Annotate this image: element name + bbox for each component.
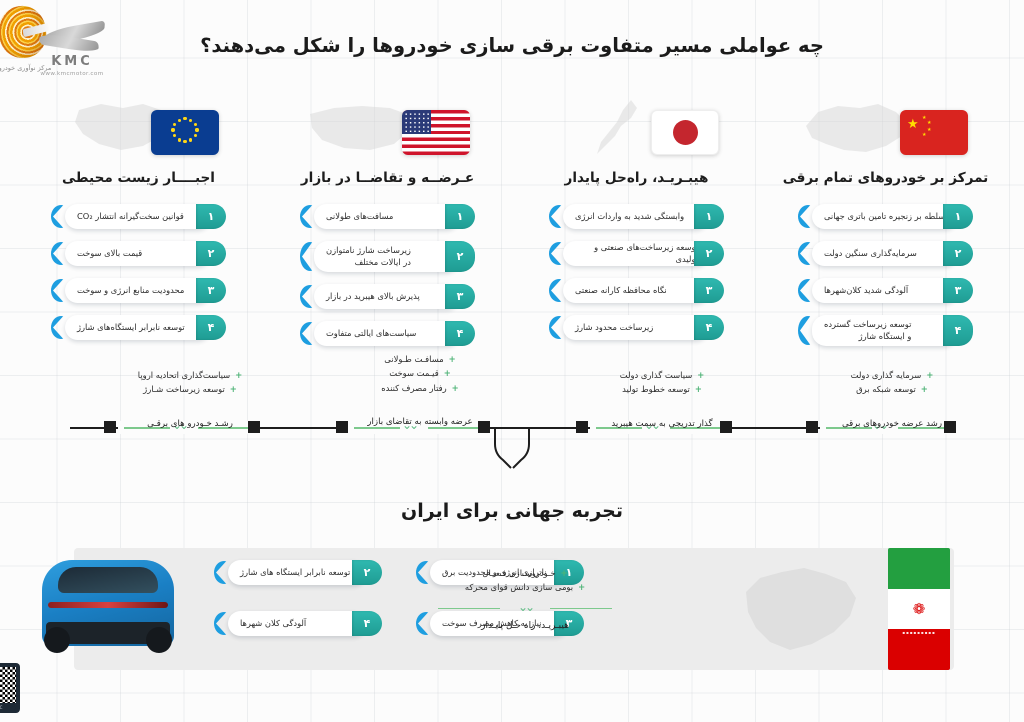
driver-row: +سرمایه گذاری دولت xyxy=(816,368,968,382)
factor-item[interactable]: مسافت‌های طولانی ۱ xyxy=(300,204,475,229)
factor-number: ۲ xyxy=(352,560,382,585)
driver-text: بومی سازی دانش قوای محرکه xyxy=(465,582,573,592)
eu-flag-row xyxy=(14,96,263,164)
factor-number: ۲ xyxy=(196,241,226,266)
factor-item[interactable]: سرمایه‌گذاری سنگین دولت ۲ xyxy=(798,241,973,266)
driver-text: خـودروسـازی فـعــال xyxy=(482,568,555,578)
factor-item[interactable]: زیرساخت محدود شارژ ۴ xyxy=(549,315,724,340)
driver-row: +سیاست‌گذاری اتحادیه اروپا xyxy=(114,368,266,382)
timeline-block-japan: +سیاست گذاری دولت +توسعه خطوط تولید گذار… xyxy=(586,368,738,429)
driver-text: توسعه شبکه برق xyxy=(856,384,916,394)
factor-text: قیمت بالای سوخت xyxy=(77,248,142,259)
japan-flag-row xyxy=(512,96,761,164)
timeline-result-usa: عرضه وابسته به تقاضای بازار xyxy=(344,417,496,427)
china-flag-icon: ★ ★ ★ ★ ★ xyxy=(900,110,968,155)
factor-text: زیرساخت شارژ نامتوازن در ایالات مختلف xyxy=(326,245,411,267)
driver-row: +توسعه زیرساخت شـارژ xyxy=(114,382,266,396)
driver-row: +سیاست گذاری دولت xyxy=(586,368,738,382)
qr-pattern xyxy=(0,667,16,703)
qr-caption: KMC xyxy=(0,705,16,710)
factor-item[interactable]: وابستگی شدید به واردات انرژی ۱ xyxy=(549,204,724,229)
timeline-green-seg xyxy=(428,427,478,429)
factor-item[interactable]: آلودگی شدید کلان‌شهرها ۳ xyxy=(798,278,973,303)
infographic-canvas: مرکز نوآوری خودرو چه عواملی مسیر متفاوت … xyxy=(0,0,1024,722)
plus-icon: + xyxy=(452,383,459,393)
kmc-website: www.kmcmotor.com xyxy=(14,71,130,77)
factor-text: محدودیت منابع انرژی و سوخت xyxy=(77,285,184,296)
factor-number: ۱ xyxy=(943,204,973,229)
factor-item[interactable]: سیاست‌های ایالتی متفاوت ۴ xyxy=(300,321,475,346)
usa-flag-row xyxy=(263,96,512,164)
section-heading-iran: تجربه جهانی برای ایران xyxy=(0,500,1024,522)
factor-text: نگاه محافظه کارانه صنعتی xyxy=(575,285,667,296)
driver-row: +رفتار مصرف کننده xyxy=(344,381,496,395)
timeline-block-usa: +مسافـت طـولانی +قیـمت سوخت +رفتار مصرف … xyxy=(344,352,496,427)
factor-number: ۴ xyxy=(943,315,973,346)
factor-item[interactable]: قیمت بالای سوخت ۲ xyxy=(51,241,226,266)
factor-number: ۳ xyxy=(445,284,475,309)
plus-icon: + xyxy=(561,568,568,578)
factor-number: ۳ xyxy=(694,278,724,303)
factor-text: زیرساخت محدود شارژ xyxy=(575,322,653,333)
china-map xyxy=(798,98,914,160)
factor-text: سیاست‌های ایالتی متفاوت xyxy=(326,328,416,339)
factor-number: ۱ xyxy=(445,204,475,229)
chevron-down-icon: ⌄⌄ xyxy=(518,600,532,614)
outcome-timeline: ⌄⌄ ⌄⌄ ⌄⌄ ⌄⌄ +سیاست‌گذاری اتحادیه اروپا +… xyxy=(0,372,1024,468)
japan-map xyxy=(591,96,651,158)
factor-number: ۴ xyxy=(352,611,382,636)
factor-text: سرمایه‌گذاری سنگین دولت xyxy=(824,248,917,259)
factor-item[interactable]: قوانین سخت‌گیرانه انتشار CO₂ ۱ xyxy=(51,204,226,229)
factor-text: وابستگی شدید به واردات انرژی xyxy=(575,211,684,222)
column-heading-japan: هیبـریـد، راه‌حل پایدار xyxy=(512,170,761,186)
factor-text: مسافت‌های طولانی xyxy=(326,211,393,222)
driver-text: سیاست گذاری دولت xyxy=(620,370,693,380)
factor-text: پذیرش بالای هیبرید در بازار xyxy=(326,291,420,302)
factor-text: آلودگی شدید کلان‌شهرها xyxy=(824,285,908,296)
factor-text: توسعه نابرابر ایستگاه‌های شارژ xyxy=(77,322,185,333)
japan-factor-list: وابستگی شدید به واردات انرژی ۱ توسعه زیر… xyxy=(512,204,761,340)
factor-item[interactable]: توسعه نابرابر ایستگاه های شارژ ۲ xyxy=(214,560,382,585)
japan-flag-icon xyxy=(651,110,719,155)
timeline-branch-hook xyxy=(491,428,531,470)
timeline-result-eu: رشـد خـودرو های برقـی xyxy=(114,419,266,429)
iran-conclusion: +خـودروسـازی فـعــال +بومی سازی دانش قوا… xyxy=(430,566,620,631)
driver-text: سرمایه گذاری دولت xyxy=(851,370,922,380)
plus-icon: + xyxy=(578,582,585,592)
factor-item[interactable]: توسعه زیرساخت گسترده و ایستگاه شارژ ۴ xyxy=(798,315,973,346)
page-title: چه عواملی مسیر متفاوت برقی سازی خودروها … xyxy=(0,34,1024,57)
timeline-block-eu: +سیاست‌گذاری اتحادیه اروپا +توسعه زیرساخ… xyxy=(114,368,266,429)
timeline-result-china: رشد عرضه خودروهای برقی xyxy=(816,419,968,429)
factor-text: قوانین سخت‌گیرانه انتشار CO₂ xyxy=(77,211,184,222)
driver-text: رفتار مصرف کننده xyxy=(381,383,446,393)
factor-item[interactable]: آلودگی کلان شهرها ۴ xyxy=(214,611,382,636)
electric-suv-rear-image xyxy=(34,540,186,662)
factor-text: آلودگی کلان شهرها xyxy=(240,618,306,629)
plus-icon: + xyxy=(695,384,702,394)
factor-item[interactable]: پذیرش بالای هیبرید در بازار ۳ xyxy=(300,284,475,309)
factor-number: ۳ xyxy=(196,278,226,303)
column-japan: هیبـریـد، راه‌حل پایدار وابستگی شدید به … xyxy=(512,96,761,358)
factor-text: توسعه زیرساخت‌های صنعتی و تولیدی xyxy=(575,242,698,264)
conclusion-separator: ⌄⌄ xyxy=(430,601,620,615)
plus-icon: + xyxy=(444,368,451,378)
driver-row: +قیـمت سوخت xyxy=(344,366,496,380)
iran-map xyxy=(734,558,866,662)
factor-text: سلطه بر زنجیره تامین باتری جهانی xyxy=(824,211,945,222)
factor-item[interactable]: نگاه محافظه کارانه صنعتی ۳ xyxy=(549,278,724,303)
timeline-block-china: +سرمایه گذاری دولت +توسعه شبکه برق رشد ع… xyxy=(816,368,968,429)
factor-number: ۲ xyxy=(943,241,973,266)
driver-row: +خـودروسـازی فـعــال xyxy=(430,566,620,580)
driver-row: +توسعه شبکه برق xyxy=(816,382,968,396)
timeline-green-seg xyxy=(354,427,400,429)
factor-item[interactable]: توسعه نابرابر ایستگاه‌های شارژ ۴ xyxy=(51,315,226,340)
factor-number: ۴ xyxy=(196,315,226,340)
usa-factor-list: مسافت‌های طولانی ۱ زیرساخت شارژ نامتوازن… xyxy=(263,204,512,346)
eu-flag-icon xyxy=(151,110,219,155)
driver-row: +توسعه خطوط تولید xyxy=(586,382,738,396)
column-usa: عـرضــه و تقاضــا در بازار مسافت‌های طول… xyxy=(263,96,512,358)
factor-number: ۴ xyxy=(445,321,475,346)
driver-text: توسعه خطوط تولید xyxy=(622,384,690,394)
qr-code[interactable]: KMC xyxy=(0,663,20,713)
china-flag-row: ★ ★ ★ ★ ★ xyxy=(761,96,1010,164)
factor-item[interactable]: سلطه بر زنجیره تامین باتری جهانی ۱ xyxy=(798,204,973,229)
driver-row: +مسافـت طـولانی xyxy=(344,352,496,366)
column-heading-china: تمرکز بر خودروهای تمام برقی xyxy=(761,170,1010,186)
plus-icon: + xyxy=(926,370,933,380)
column-heading-eu: اجبــــار زیست محیطی xyxy=(14,170,263,186)
factor-number: ۲ xyxy=(694,241,724,266)
driver-text: توسعه زیرساخت شـارژ xyxy=(143,384,225,394)
plus-icon: + xyxy=(230,384,237,394)
iran-result: هیبـریـد، راه حـل پایـدار xyxy=(430,621,620,631)
factor-item[interactable]: توسعه زیرساخت‌های صنعتی و تولیدی ۲ xyxy=(549,241,724,266)
driver-text: سیاست‌گذاری اتحادیه اروپا xyxy=(138,370,230,380)
kmc-wing-icon xyxy=(37,26,107,52)
factor-number: ۳ xyxy=(943,278,973,303)
factor-number: ۱ xyxy=(196,204,226,229)
driver-text: مسافـت طـولانی xyxy=(384,354,443,364)
driver-row: +بومی سازی دانش قوای محرکه xyxy=(430,580,620,594)
factor-text: توسعه زیرساخت گسترده و ایستگاه شارژ xyxy=(824,319,911,341)
country-columns: ★ ★ ★ ★ ★ تمرکز بر خودروهای تمام برقی سل… xyxy=(0,96,1024,358)
factor-item[interactable]: محدودیت منابع انرژی و سوخت ۳ xyxy=(51,278,226,303)
plus-icon: + xyxy=(921,384,928,394)
brand-logo-kmc: KMC www.kmcmotor.com xyxy=(14,26,130,88)
plus-icon: + xyxy=(235,370,242,380)
plus-icon: + xyxy=(697,370,704,380)
factor-number: ۱ xyxy=(694,204,724,229)
factor-number: ۲ xyxy=(445,241,475,272)
usa-flag-icon xyxy=(402,110,470,155)
factor-item[interactable]: زیرساخت شارژ نامتوازن در ایالات مختلف ۲ xyxy=(300,241,475,272)
timeline-result-japan: گذار تدریجی به سمت هیبرید xyxy=(586,419,738,429)
driver-text: قیـمت سوخت xyxy=(389,368,438,378)
column-heading-usa: عـرضــه و تقاضــا در بازار xyxy=(263,170,512,186)
eu-factor-list: قوانین سخت‌گیرانه انتشار CO₂ ۱ قیمت بالا… xyxy=(14,204,263,340)
kmc-wordmark: KMC xyxy=(14,54,130,69)
iran-flag-icon: ▪▪▪▪▪▪▪▪▪ ▪▪▪▪▪▪▪▪▪ ❁ xyxy=(888,548,950,670)
plus-icon: + xyxy=(449,354,456,364)
factor-number: ۴ xyxy=(694,315,724,340)
china-factor-list: سلطه بر زنجیره تامین باتری جهانی ۱ سرمای… xyxy=(761,204,1010,346)
factor-text: توسعه نابرابر ایستگاه های شارژ xyxy=(240,567,350,578)
column-eu: اجبــــار زیست محیطی قوانین سخت‌گیرانه ا… xyxy=(14,96,263,358)
column-china: ★ ★ ★ ★ ★ تمرکز بر خودروهای تمام برقی سل… xyxy=(761,96,1010,358)
